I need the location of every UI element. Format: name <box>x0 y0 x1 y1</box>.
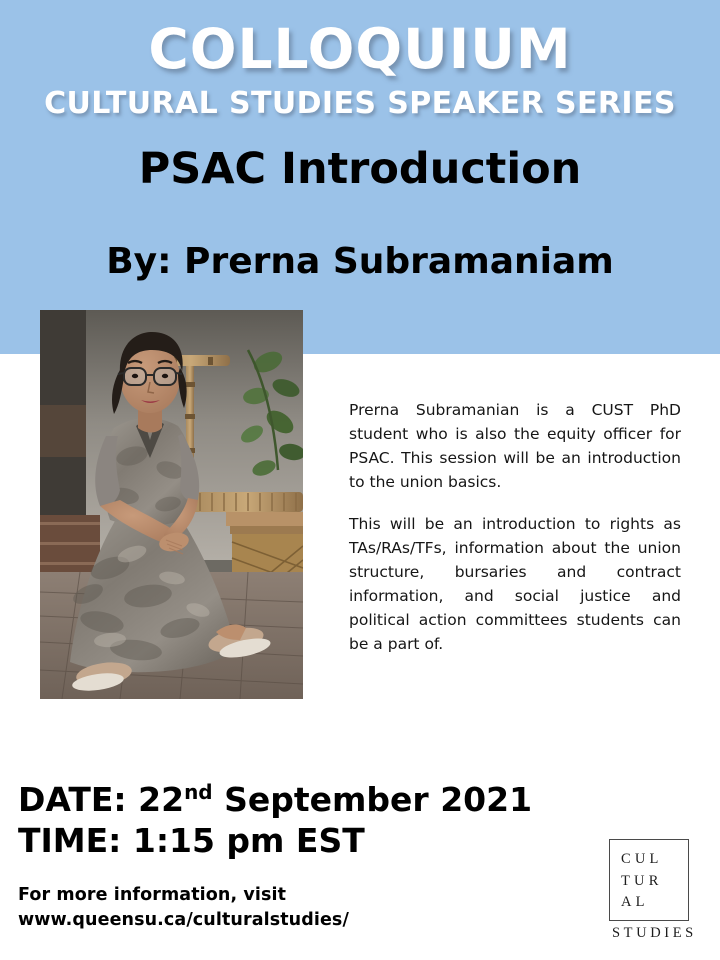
logo-word-studies: STUDIES <box>609 924 691 942</box>
series-subtitle: CULTURAL STUDIES SPEAKER SERIES <box>0 86 720 122</box>
logo-line-3: AL <box>621 892 688 914</box>
speaker-byline: By: Prerna Subramaniam <box>0 240 720 284</box>
logo-line-1: CUL <box>621 849 688 871</box>
talk-title: PSAC Introduction <box>0 143 720 195</box>
event-date-day: 22 <box>138 780 184 819</box>
event-date-rest: September 2021 <box>213 780 532 819</box>
event-date-day-spacer <box>127 780 139 819</box>
speaker-photo-illustration <box>40 310 303 699</box>
description-paragraph-2: This will be an introduction to rights a… <box>349 512 681 656</box>
cultural-studies-logo: CUL TUR AL STUDIES <box>609 839 691 942</box>
event-time: TIME: 1:15 pm EST <box>18 820 532 861</box>
logo-box: CUL TUR AL <box>609 839 689 921</box>
footer-info: For more information, visit www.queensu.… <box>18 883 349 933</box>
event-date-label: DATE: <box>18 780 127 819</box>
footer-url[interactable]: www.queensu.ca/culturalstudies/ <box>18 908 349 933</box>
poster-canvas: COLLOQUIUM CULTURAL STUDIES SPEAKER SERI… <box>0 0 720 960</box>
speaker-photo <box>40 310 303 699</box>
footer-info-text: For more information, visit <box>18 883 349 908</box>
event-datetime: DATE: 22nd September 2021 TIME: 1:15 pm … <box>18 779 532 861</box>
logo-line-2: TUR <box>621 871 688 893</box>
event-date-ordinal: nd <box>184 780 213 804</box>
description-block: Prerna Subramanian is a CUST PhD student… <box>349 398 681 656</box>
event-date: DATE: 22nd September 2021 <box>18 779 532 820</box>
series-title: COLLOQUIUM <box>0 20 720 78</box>
description-paragraph-1: Prerna Subramanian is a CUST PhD student… <box>349 398 681 494</box>
